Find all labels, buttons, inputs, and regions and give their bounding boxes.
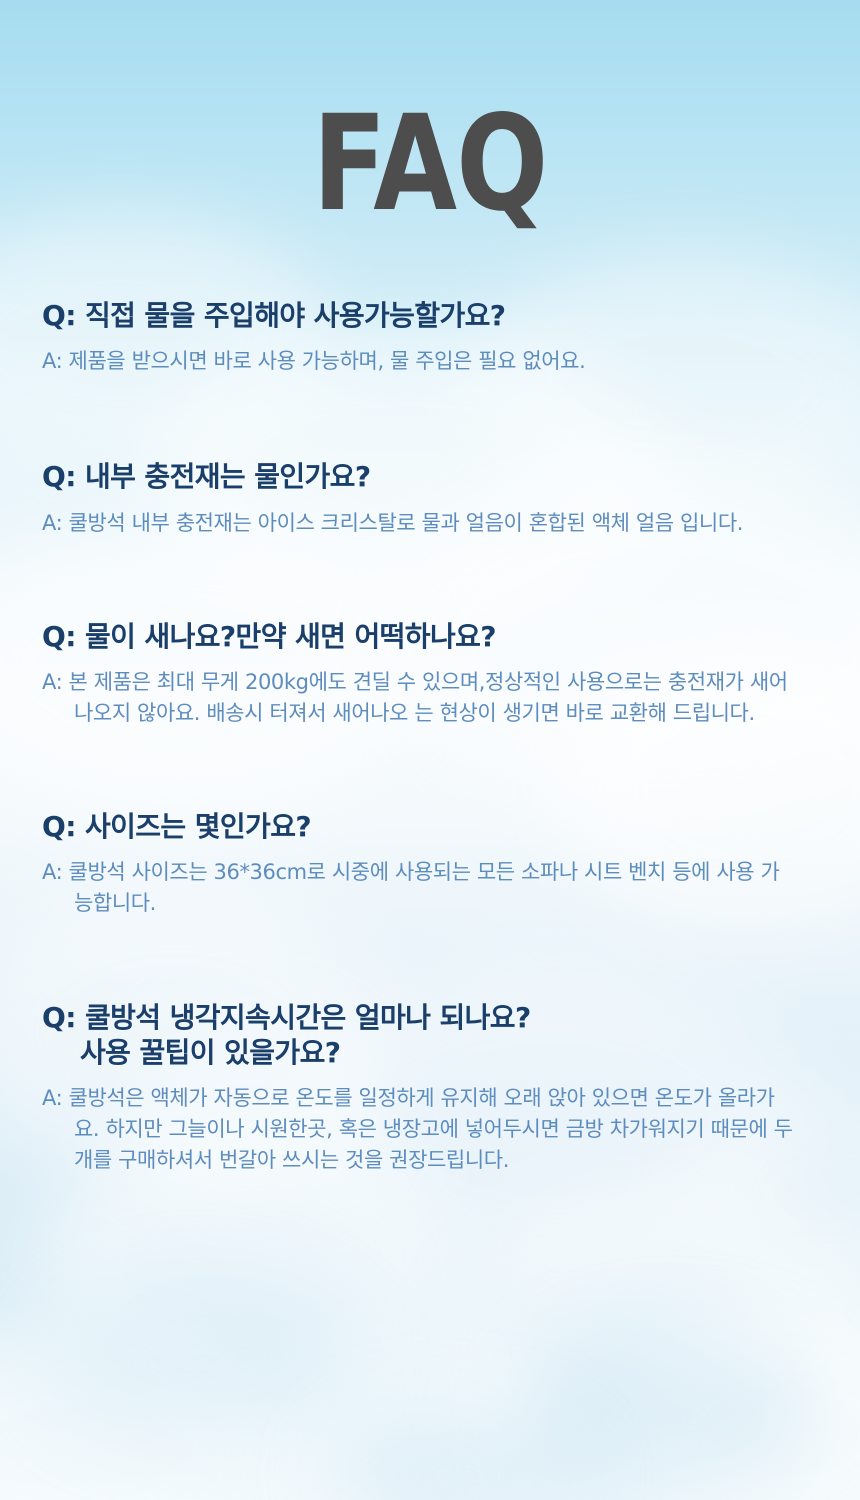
faq-item: Q: 물이 새나요?만약 새면 어떡하나요? A: 본 제품은 최대 무게 20…: [42, 619, 818, 729]
faq-item: Q: 내부 충전재는 물인가요? A: 쿨방석 내부 충전재는 아이스 크리스탈…: [42, 459, 818, 538]
faq-answer: A: 제품을 받으시면 바로 사용 가능하며, 물 주입은 필요 없어요.: [42, 346, 794, 377]
faq-content: FAQ Q: 직접 물을 주입해야 사용가능할가요? A: 제품을 받으시면 바…: [0, 0, 860, 1500]
faq-list: Q: 직접 물을 주입해야 사용가능할가요? A: 제품을 받으시면 바로 사용…: [42, 298, 818, 1176]
faq-item: Q: 사이즈는 몇인가요? A: 쿨방석 사이즈는 36*36cm로 시중에 사…: [42, 809, 818, 919]
faq-question: Q: 사이즈는 몇인가요?: [42, 809, 818, 844]
faq-question: Q: 쿨방석 냉각지속시간은 얼마나 되나요? 사용 꿀팁이 있을가요?: [42, 1000, 818, 1071]
faq-answer: A: 쿨방석은 액체가 자동으로 온도를 일정하게 유지해 오래 앉아 있으면 …: [42, 1083, 794, 1176]
faq-question: Q: 내부 충전재는 물인가요?: [42, 459, 818, 494]
faq-question: Q: 물이 새나요?만약 새면 어떡하나요?: [42, 619, 818, 654]
faq-item: Q: 직접 물을 주입해야 사용가능할가요? A: 제품을 받으시면 바로 사용…: [42, 298, 818, 377]
faq-answer: A: 본 제품은 최대 무게 200kg에도 견딜 수 있으며,정상적인 사용으…: [42, 667, 794, 729]
faq-item: Q: 쿨방석 냉각지속시간은 얼마나 되나요? 사용 꿀팁이 있을가요? A: …: [42, 1000, 818, 1177]
faq-answer: A: 쿨방석 사이즈는 36*36cm로 시중에 사용되는 모든 소파나 시트 …: [42, 857, 794, 919]
page-title: FAQ: [77, 98, 782, 230]
faq-page: FAQ Q: 직접 물을 주입해야 사용가능할가요? A: 제품을 받으시면 바…: [0, 0, 860, 1500]
faq-answer: A: 쿨방석 내부 충전재는 아이스 크리스탈로 물과 얼음이 혼합된 액체 얼…: [42, 508, 794, 539]
faq-question: Q: 직접 물을 주입해야 사용가능할가요?: [42, 298, 818, 333]
